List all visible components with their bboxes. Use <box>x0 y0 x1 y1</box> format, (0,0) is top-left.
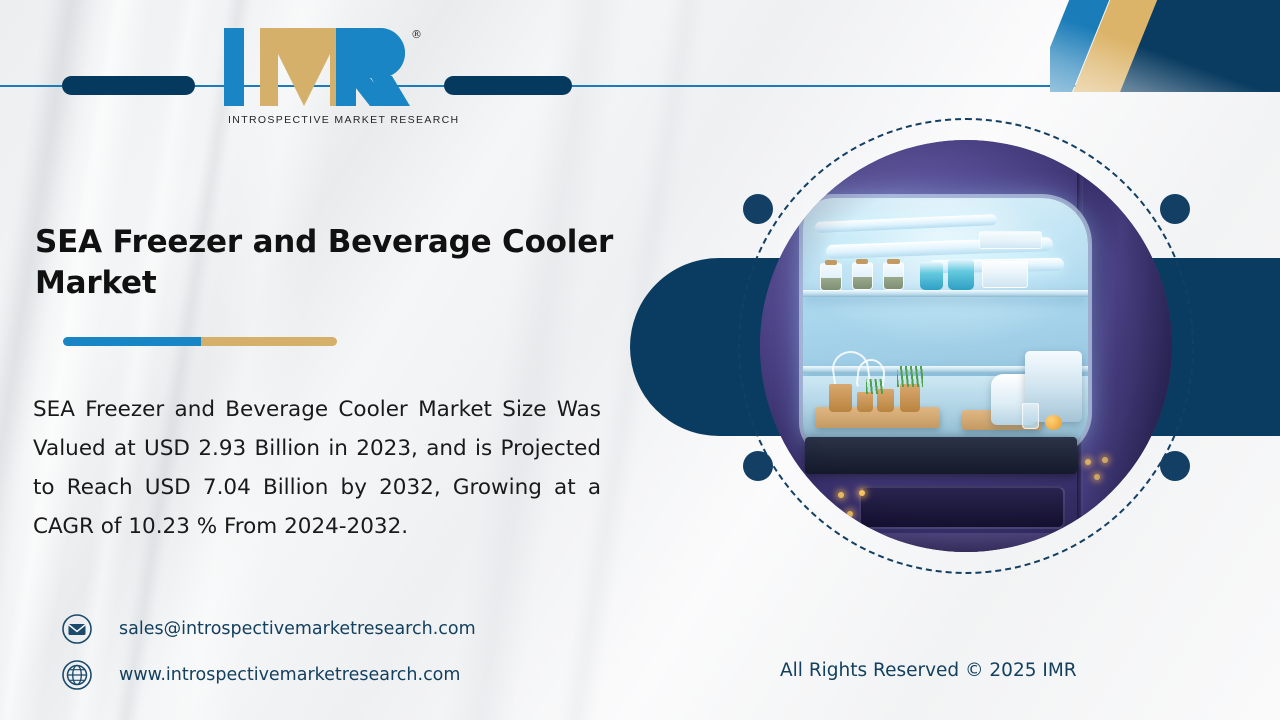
corner-stripes-decoration <box>1050 0 1280 92</box>
imr-logo[interactable]: ® INTROSPECTIVE MARKET RESEARCH <box>218 26 428 136</box>
logo-letter-r <box>336 28 410 106</box>
logo-letter-i <box>224 28 244 106</box>
header-bar-right <box>444 76 572 95</box>
accent-segment-blue <box>63 337 201 346</box>
email-address[interactable]: sales@introspectivemarketresearch.com <box>119 619 476 639</box>
website-url[interactable]: www.introspectivemarketresearch.com <box>119 665 460 685</box>
globe-icon <box>60 658 94 692</box>
copyright-text: All Rights Reserved © 2025 IMR <box>780 660 1077 681</box>
registered-trademark-icon: ® <box>411 28 422 41</box>
market-summary-text: SEA Freezer and Beverage Cooler Market S… <box>33 390 601 547</box>
contact-row-website[interactable]: www.introspectivemarketresearch.com <box>60 652 476 698</box>
contact-block: sales@introspectivemarketresearch.com ww… <box>60 606 476 698</box>
header-bar-left <box>62 76 195 95</box>
page-title: SEA Freezer and Beverage Cooler Market <box>35 222 635 304</box>
title-accent-bar <box>63 337 337 346</box>
logo-caption: INTROSPECTIVE MARKET RESEARCH <box>228 114 460 126</box>
logo-lettermark: ® <box>218 26 418 106</box>
hero-image-frame <box>760 140 1172 552</box>
accent-segment-gold <box>201 337 337 346</box>
logo-letter-m <box>260 28 348 106</box>
contact-row-email[interactable]: sales@introspectivemarketresearch.com <box>60 606 476 652</box>
photo-vignette <box>760 140 1172 552</box>
poster-canvas: ® INTROSPECTIVE MARKET RESEARCH SEA Free… <box>0 0 1280 720</box>
envelope-icon <box>60 612 94 646</box>
product-photo-freezer-cooler <box>760 140 1172 552</box>
